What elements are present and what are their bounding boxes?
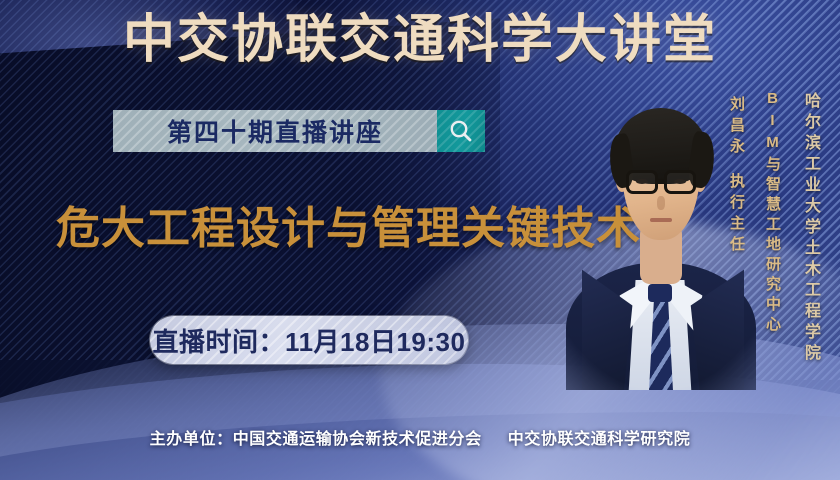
speaker-name-and-role: 刘昌永执行主任 — [726, 96, 747, 257]
portrait-mouth — [650, 218, 672, 222]
portrait-tie-knot — [648, 284, 672, 302]
footer-prefix: 主办单位： — [150, 431, 233, 448]
subtitle-label: 第四十期直播讲座 — [167, 113, 383, 149]
footer-org-1: 中国交通运输协会新技术促进分会 — [233, 431, 482, 448]
portrait-glasses-right — [664, 170, 696, 194]
subtitle-plate: 第四十期直播讲座 — [113, 110, 437, 152]
search-icon — [448, 118, 474, 144]
speaker-center: BIM与智慧工地研究中心 — [762, 90, 783, 336]
broadcast-time-badge: 直播时间：11月18日19:30 — [150, 316, 468, 364]
portrait-glasses-bridge — [658, 179, 666, 182]
subtitle-bar: 第四十期直播讲座 — [113, 110, 485, 152]
speaker-name: 刘昌永 — [728, 96, 745, 159]
livestream-poster: 中交协联交通科学大讲堂 第四十期直播讲座 危大工程设计与管理关键技术 直播时间：… — [0, 0, 840, 480]
portrait-glasses-left — [626, 170, 658, 194]
lecture-title: 危大工程设计与管理关键技术 — [56, 192, 641, 256]
speaker-role: 执行主任 — [728, 173, 745, 257]
portrait-nose — [657, 196, 665, 210]
page-title: 中交协联交通科学大讲堂 — [0, 14, 840, 66]
search-button[interactable] — [437, 110, 485, 152]
footer-organizers: 主办单位：中国交通运输协会新技术促进分会中交协联交通科学研究院 — [0, 425, 840, 449]
footer-org-2: 中交协联交通科学研究院 — [508, 431, 691, 448]
broadcast-time-text: 直播时间：11月18日19:30 — [153, 322, 466, 359]
speaker-school: 哈尔滨工业大学土木工程学院 — [798, 92, 822, 365]
